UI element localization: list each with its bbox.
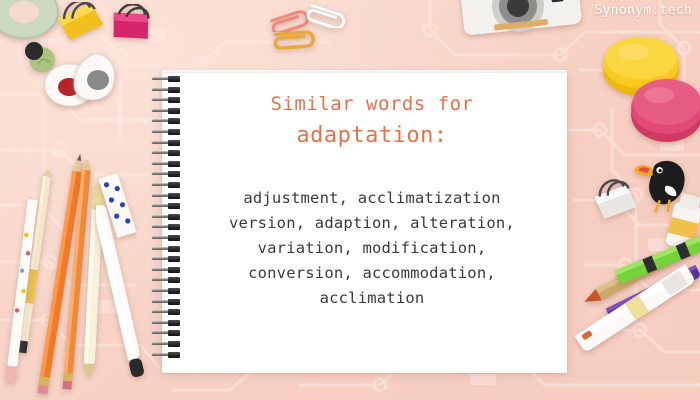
binder-clip-silver [586, 178, 644, 222]
page-content: Similar words for adaptation: adjustment… [192, 91, 552, 311]
spiral-coil [152, 193, 180, 199]
spiral-coil [152, 256, 180, 262]
paperclip-gold [268, 24, 322, 50]
spiral-coil [152, 214, 180, 220]
spiral-coil [152, 171, 180, 177]
spiral-coil [152, 203, 180, 209]
spiral-coil [152, 182, 180, 188]
notebook: Similar words for adaptation: adjustment… [150, 70, 568, 375]
spiral-coil [152, 288, 180, 294]
spiral-coil [152, 108, 180, 114]
spiral-coil [152, 341, 180, 347]
synonym-line: adjustment, acclimatization [192, 186, 552, 211]
pen-patterned [0, 195, 46, 395]
binder-clip-magenta [104, 4, 162, 46]
washi-tape-polka [96, 172, 142, 242]
spiral-coil [152, 76, 180, 82]
spiral-coil [152, 150, 180, 156]
synonym-line: version, adaption, alteration, [192, 211, 552, 236]
spiral-coil [152, 118, 180, 124]
marker-white-large [560, 255, 700, 365]
spiral-coil [152, 246, 180, 252]
site-logo: Synonym.tech [594, 3, 692, 18]
spiral-coil [152, 299, 180, 305]
page-title-line1: Similar words for [192, 91, 552, 117]
notebook-page: Similar words for adaptation: adjustment… [162, 73, 567, 373]
synonym-line: conversion, accommodation, [192, 261, 552, 286]
spiral-coil [152, 87, 180, 93]
spiral-coil [152, 161, 180, 167]
spiral-coil [152, 320, 180, 326]
synonym-list: adjustment, acclimatization version, ada… [192, 186, 552, 311]
spiral-coil [152, 352, 180, 358]
spiral-coil [152, 267, 180, 273]
macaron-pink [628, 74, 700, 146]
synonym-line: acclimation [192, 286, 552, 311]
page-title-line2: adaptation: [192, 122, 552, 150]
spiral-coil [152, 309, 180, 315]
synonym-line: variation, modification, [192, 236, 552, 261]
eraser-oval-gray [66, 50, 122, 106]
spiral-coil [152, 129, 180, 135]
camera [452, 0, 584, 46]
spiral-coil [152, 277, 180, 283]
spiral-coil [152, 235, 180, 241]
spiral-coil [152, 330, 180, 336]
spiral-coil [152, 140, 180, 146]
spiral-binding [150, 76, 184, 372]
spiral-coil [152, 97, 180, 103]
screenshot-stage: Synonym.tech [0, 0, 700, 400]
spiral-coil [152, 224, 180, 230]
